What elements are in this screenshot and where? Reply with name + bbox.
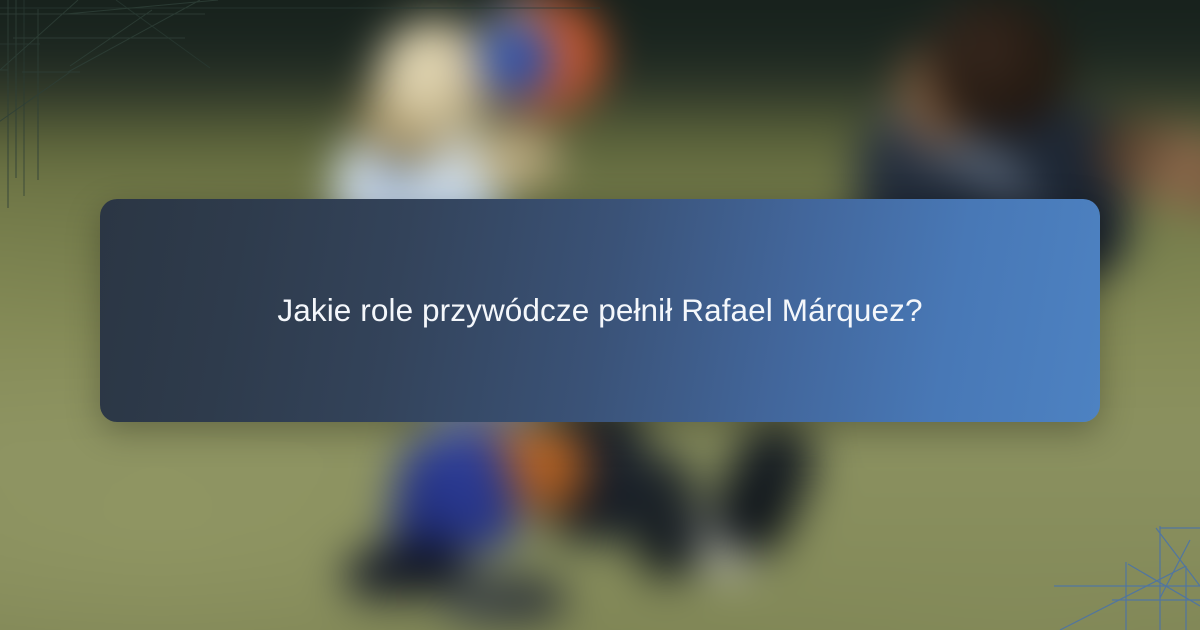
question-text: Jakie role przywódcze pełnił Rafael Márq… <box>277 291 922 330</box>
player-right-hair <box>929 0 1065 132</box>
screenshot-stage: Jakie role przywódcze pełnił Rafael Márq… <box>0 0 1200 630</box>
player-left-head <box>375 20 492 141</box>
player-left-arm <box>470 126 561 191</box>
player-boot-right <box>440 575 565 623</box>
soccer-ball <box>477 0 604 115</box>
question-card: Jakie role przywódcze pełnił Rafael Márq… <box>100 199 1100 422</box>
